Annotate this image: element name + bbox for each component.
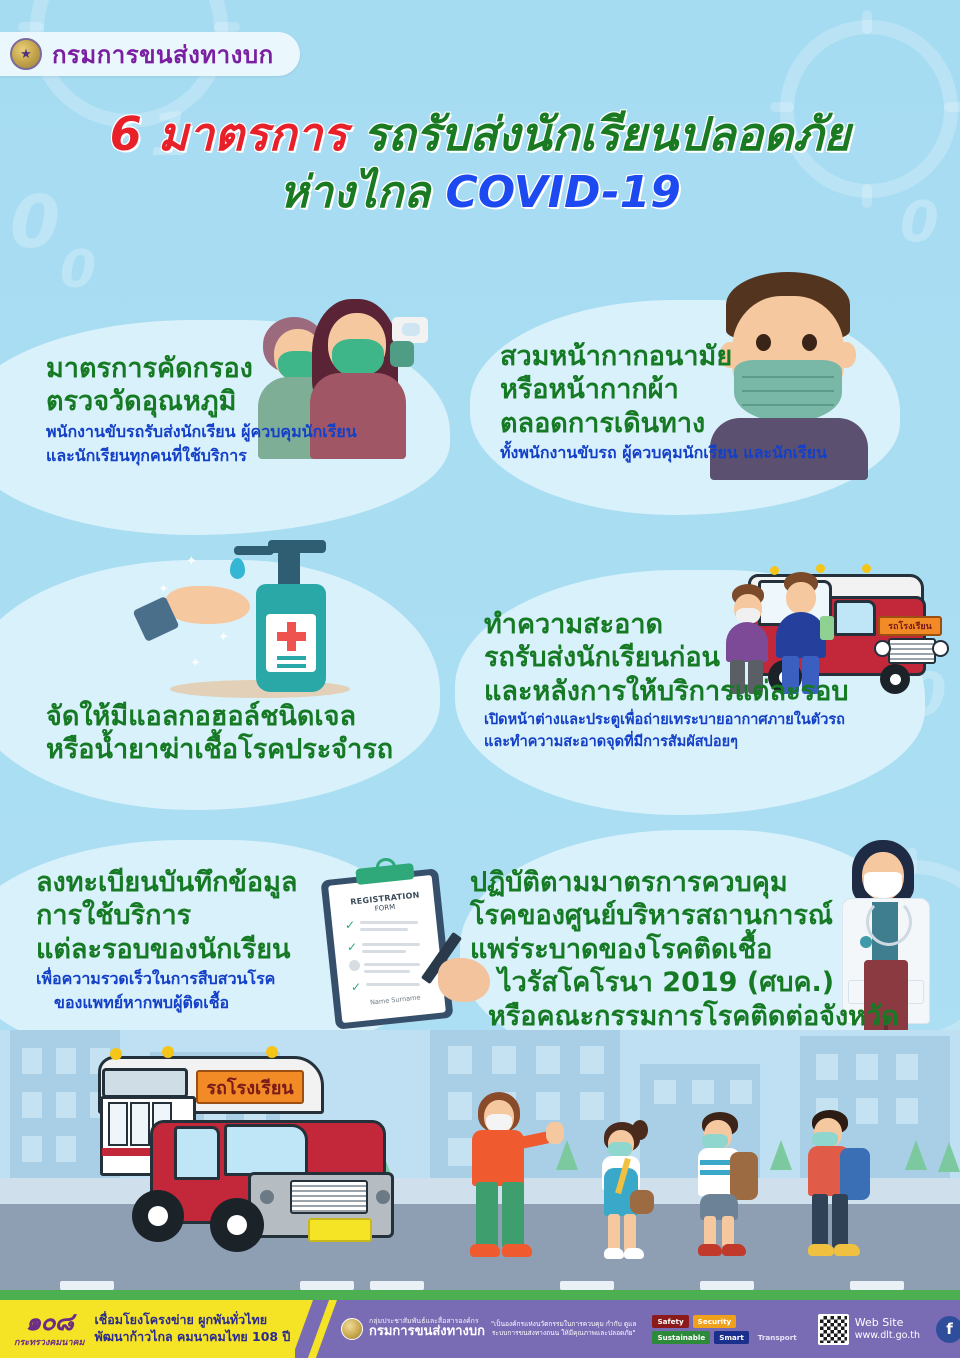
gloved-hand [390,341,414,367]
tree-icon [905,1140,927,1170]
school-bus-sign: รถโรงเรียน [196,1070,304,1104]
person-torso [472,1130,524,1186]
person-leg [624,1214,636,1252]
slogan-line-1: เชื่อมโยงโครงข่าย ผูกพันทั่วไทย [94,1312,290,1329]
person-leg [832,1194,848,1248]
crosswalk-stripe [60,1281,114,1290]
tag-safety: Safety [652,1315,688,1328]
headlight-icon [874,640,891,657]
measure-heading-line: หรือคณะกรรมการโรคติดต่อจังหวัด [470,1000,930,1033]
student-figure [594,1122,656,1262]
teacher-figure [460,1092,550,1260]
measure-heading-line: หรือหน้ากากผ้า [500,373,827,406]
tag-security: Security [693,1315,737,1328]
ministry-name: กระทรวงคมนาคม [14,1335,84,1349]
sparkle-icon: ✦ [158,582,169,597]
tag-sustainable: Sustainable [652,1331,710,1344]
title-main: รถรับส่งนักเรียนปลอดภัย [363,107,850,161]
person-shoe [624,1248,644,1259]
measure-subtext-line: และทำความสะอาดจุดที่มีการสัมผัสบ่อยๆ [484,733,848,752]
measure-heading-line: และหลังการให้บริการแต่ละรอบ [484,675,848,708]
measure-6: ปฏิบัติตามมาตรการควบคุม โรคของศูนย์บริหา… [470,866,930,1033]
student-figure [690,1112,762,1262]
label-line [277,664,306,668]
measure-heading-line: ตลอดการเดินทาง [500,407,827,440]
crosswalk-stripe [560,1281,614,1290]
qr-code-website[interactable] [818,1314,849,1345]
measure-heading-line: ลงทะเบียนบันทึกข้อมูล [36,866,297,899]
roof-lamp-icon [862,564,871,573]
garuda-seal-icon: ★ [10,38,42,70]
cargo-window [108,1102,128,1146]
measure-heading-line: ไวรัสโคโรนา 2019 (ศบค.) [470,966,930,999]
truck-grille [290,1180,368,1214]
tree-icon [556,1140,578,1170]
dlt-identity: กลุ่มประชาสัมพันธ์และสื่อสารองค์กร กรมกา… [341,1318,485,1341]
form-rule [364,970,410,973]
school-bus-truck: รถโรงเรียน [88,1048,428,1263]
illustration-sanitizer: ✦ ✦ ✦ ✦ [130,540,365,725]
bottle-nozzle [234,546,274,555]
person-shoe [722,1244,746,1256]
poster-title: 6 มาตรการ รถรับส่งนักเรียนปลอดภัย ห่างไก… [0,110,960,216]
hair-bun [632,1120,648,1140]
measure-subtext-line: เปิดหน้าต่างและประตูเพื่อถ่ายเทระบายอากา… [484,711,848,730]
anniversary-number: ๑๐๘ [26,1309,73,1334]
roof-lamp-icon [162,1046,174,1058]
checkmark-icon: ✓ [345,918,355,932]
open-palm-icon [546,1122,564,1144]
footer-ministry-section: ๑๐๘ กระทรวงคมนาคม เชื่อมโยงโครงข่าย ผูกพ… [0,1300,295,1358]
website-label: Web Site [855,1316,904,1329]
measure-subtext-line: ทั้งพนักงานขับรถ ผู้ควบคุมนักเรียน และนั… [500,443,827,464]
measure-1: มาตรการคัดกรอง ตรวจวัดอุณหภูมิ พนักงานขั… [46,352,357,467]
sparkle-icon: ✦ [218,630,229,645]
person-leg [812,1194,828,1248]
bottle-neck [278,550,300,588]
shoulder-bag-icon [630,1190,654,1214]
checkmark-icon: ✓ [347,940,357,954]
street-scene: รถโรงเรียน [0,1030,960,1300]
form-rule [362,950,406,953]
tree-icon [770,1140,792,1170]
ministry-logo: ๑๐๘ กระทรวงคมนาคม [14,1309,84,1349]
form-rule [360,928,408,931]
mission-line-1: "เป็นองค์กรแห่งนวัตกรรมในการควบคุม กำกับ… [491,1320,637,1329]
org-header-badge: ★ กรมการขนส่งทางบก [0,32,300,76]
measure-heading-line: ปฏิบัติตามมาตรการควบคุม [470,866,930,899]
value-tags: Safety Security Sustainable Smart Transp… [652,1315,801,1344]
measure-heading-line: รถรับส่งนักเรียนก่อน [484,641,848,674]
person-shoe [808,1244,834,1256]
person-shoe [834,1244,860,1256]
measure-heading-line: ตรวจวัดอุณหภูมิ [46,385,357,418]
title-measure-count: 6 มาตรการ [110,107,347,161]
measure-heading-line: แพร่ระบาดของโรคติดเชื้อ [470,933,930,966]
backpack-icon [730,1152,758,1200]
truck-grille [888,638,936,664]
tree-icon [938,1142,960,1172]
dlt-mission-statement: "เป็นองค์กรแห่งนวัตกรรมในการควบคุม กำกับ… [491,1320,637,1338]
person-shoe [470,1244,500,1257]
person-shoe [502,1244,532,1257]
open-hand-icon [166,586,250,624]
measure-heading-line: แต่ละรอบของนักเรียน [36,933,297,966]
truck-wheel [880,664,910,694]
org-name: กรมการขนส่งทางบก [52,35,274,74]
facebook-icon[interactable]: f [936,1316,960,1343]
crosswalk-stripe [700,1281,754,1290]
headlight-icon [260,1190,274,1204]
headlight-icon [376,1190,390,1204]
person-shoe [604,1248,624,1259]
truck-windshield [224,1124,308,1176]
gel-drop-icon [230,558,245,579]
measure-heading-line: หรือน้ำยาฆ่าเชื้อโรคประจำรถ [46,733,393,766]
mission-line-2: ระบบการขนส่งทางถนน ให้มีคุณภาพและปลอดภัย… [491,1329,637,1338]
empty-checkbox-icon [349,960,360,971]
measure-3: จัดให้มีแอลกอฮอล์ชนิดเจล หรือน้ำยาฆ่าเชื… [46,700,393,767]
title-covid: COVID-19 [445,167,680,218]
person-shoe [698,1244,722,1256]
sparkle-icon: ✦ [190,656,201,671]
measure-heading-line: จัดให้มีแอลกอฮอล์ชนิดเจล [46,700,393,733]
cargo-top-window [102,1068,188,1098]
truck-wheel [210,1198,264,1252]
dlt-unit-name: กลุ่มประชาสัมพันธ์และสื่อสารองค์กร [369,1318,485,1326]
tag-transport: Transport [753,1331,802,1344]
student-figure [800,1110,876,1262]
clipboard-ring [376,858,396,876]
cargo-window [130,1102,150,1146]
dlt-org-name: กรมการขนส่งทางบก [369,1325,485,1340]
measure-4: ทำความสะอาด รถรับส่งนักเรียนก่อน และหลัง… [484,608,848,752]
website-block[interactable]: Web Site www.dlt.go.th [818,1314,920,1345]
person-leg [502,1182,524,1248]
backpack-icon [840,1148,870,1200]
grass-strip [0,1290,960,1300]
decor-glyph: 0 [60,240,96,300]
person-ear [836,342,856,368]
slogan-line-2: พัฒนาก้าวไกล คมนาคมไทย 108 ปี [94,1329,290,1346]
measure-heading-line: สวมหน้ากากอนามัย [500,340,827,373]
crosswalk-stripe [300,1281,354,1290]
person-leg [476,1182,498,1248]
sparkle-icon: ✦ [186,554,197,569]
ministry-slogan: เชื่อมโยงโครงข่าย ผูกพันทั่วไทย พัฒนาก้า… [94,1312,290,1346]
facebook-block[interactable]: f กรมการขนส่งทางบก PR.DLT.NEWS [936,1314,960,1345]
crosswalk-stripe [850,1281,904,1290]
thermometer-gun-screen [402,323,420,336]
measure-2: สวมหน้ากากอนามัย หรือหน้ากากผ้า ตลอดการเ… [500,340,827,464]
form-rule [364,963,420,966]
tag-smart: Smart [714,1331,749,1344]
poster-root: 0 0 1 0 0 O 0 ★ กรมการขนส่งทางบก 6 มาตรก… [0,0,960,1358]
truck-cab-window [174,1126,220,1180]
measure-subtext-line: ของแพทย์หากพบผู้ติดเชื้อ [54,993,297,1014]
measure-heading-line: การใช้บริการ [36,899,297,932]
roof-lamp-icon [266,1046,278,1058]
truck-wheel [132,1190,184,1242]
form-rule [360,921,418,924]
form-rule [362,943,420,946]
form-rule [366,983,420,986]
school-bus-sign: รถโรงเรียน [878,616,942,636]
measure-heading-line: โรคของศูนย์บริหารสถานการณ์ [470,899,930,932]
website-url[interactable]: www.dlt.go.th [855,1330,920,1342]
roof-lamp-icon [110,1048,122,1060]
person-leg [608,1214,620,1252]
garuda-seal-icon [341,1318,363,1340]
measure-subtext-line: พนักงานขับรถรับส่งนักเรียน ผู้ควบคุมนักเ… [46,422,357,443]
headlight-icon [932,640,949,657]
measure-5: ลงทะเบียนบันทึกข้อมูล การใช้บริการ แต่ละ… [36,866,297,1014]
title-sub: ห่างไกล [279,167,430,218]
medical-cross-icon [277,632,306,641]
checkmark-icon: ✓ [351,980,361,994]
measure-subtext-line: เพื่อความรวดเร็วในการสืบสวนโรค [36,969,297,990]
measure-heading-line: ทำความสะอาด [484,608,848,641]
license-plate [308,1218,372,1242]
crosswalk-stripe [370,1281,424,1290]
footer-contact-section: กลุ่มประชาสัมพันธ์และสื่อสารองค์กร กรมกา… [295,1300,960,1358]
measure-subtext-line: และนักเรียนทุกคนที่ใช้บริการ [46,446,357,467]
measure-heading-line: มาตรการคัดกรอง [46,352,357,385]
footer-bar: ๑๐๘ กระทรวงคมนาคม เชื่อมโยงโครงข่าย ผูกพ… [0,1300,960,1358]
label-line [277,656,306,660]
